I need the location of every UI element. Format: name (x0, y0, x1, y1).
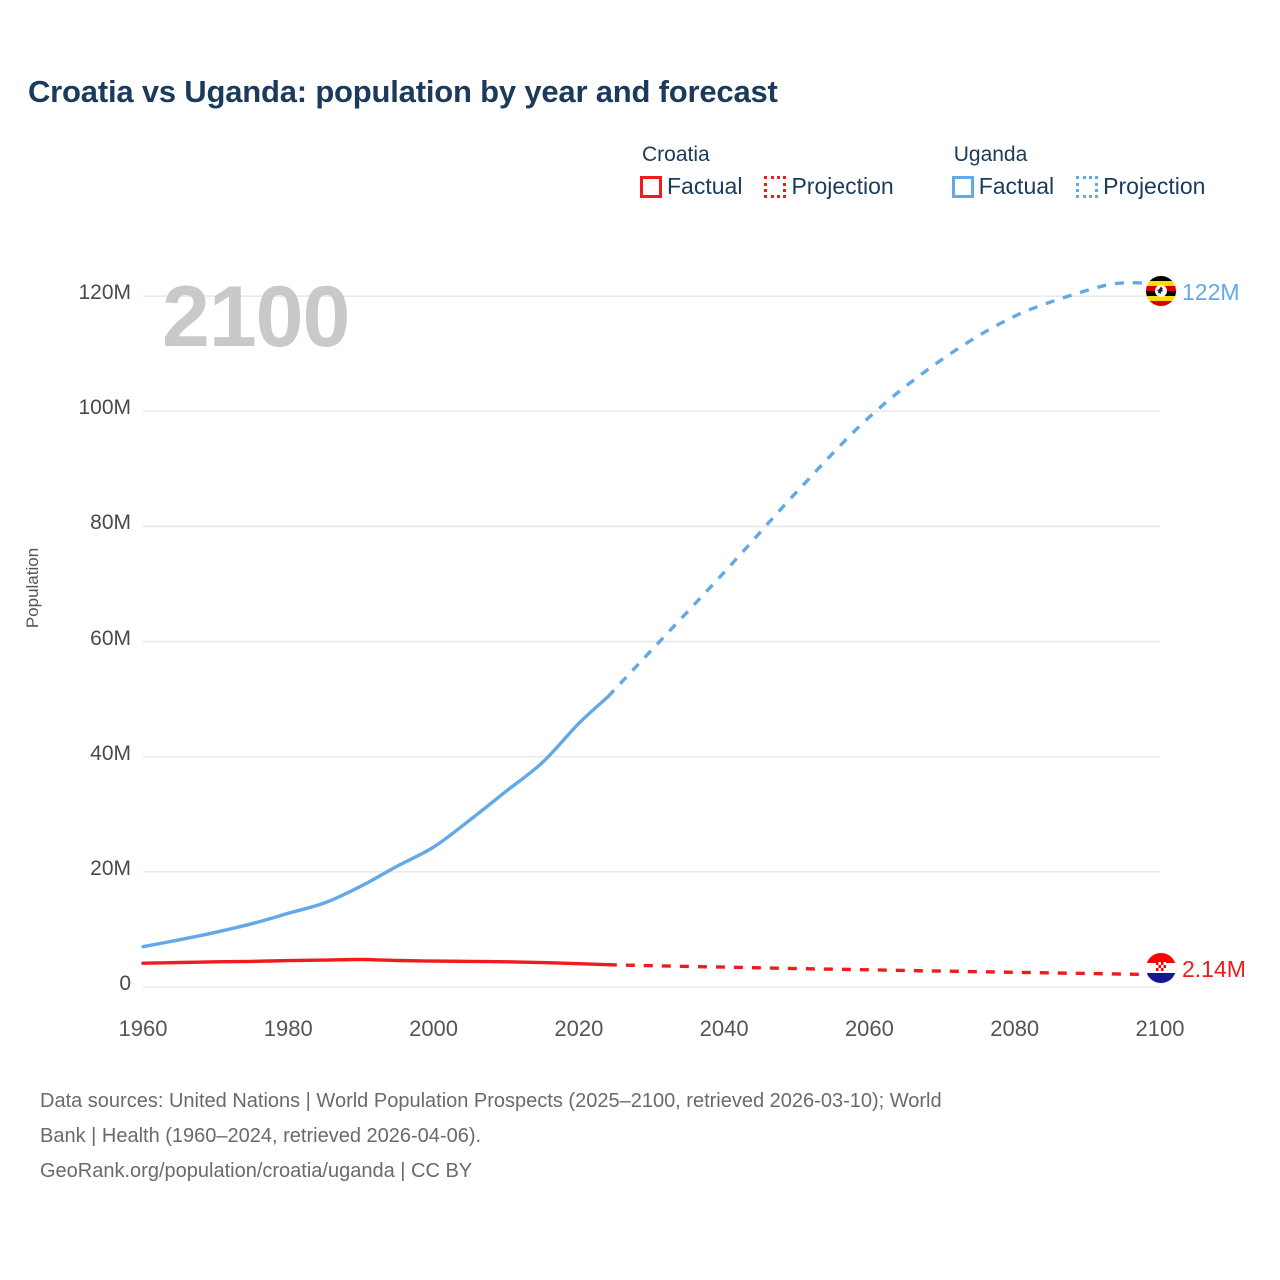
uganda-factual-line (143, 697, 608, 947)
croatia-end-value-label: 2.14M (1182, 956, 1246, 983)
footer-line-1: Data sources: United Nations | World Pop… (40, 1086, 1240, 1117)
uganda-projection-line (608, 283, 1160, 697)
uganda-end-value-label: 122M (1182, 279, 1240, 306)
chart-footer: Data sources: United Nations | World Pop… (40, 1086, 1240, 1187)
year-watermark: 2100 (162, 268, 349, 367)
uganda-flag-icon (1146, 276, 1176, 306)
croatia-factual-line (143, 959, 608, 964)
footer-line-2: Bank | Health (1960–2024, retrieved 2026… (40, 1121, 1240, 1152)
footer-line-3: GeoRank.org/population/croatia/uganda | … (40, 1156, 1240, 1187)
croatia-flag-icon (1146, 953, 1176, 983)
croatia-projection-line (608, 965, 1160, 975)
